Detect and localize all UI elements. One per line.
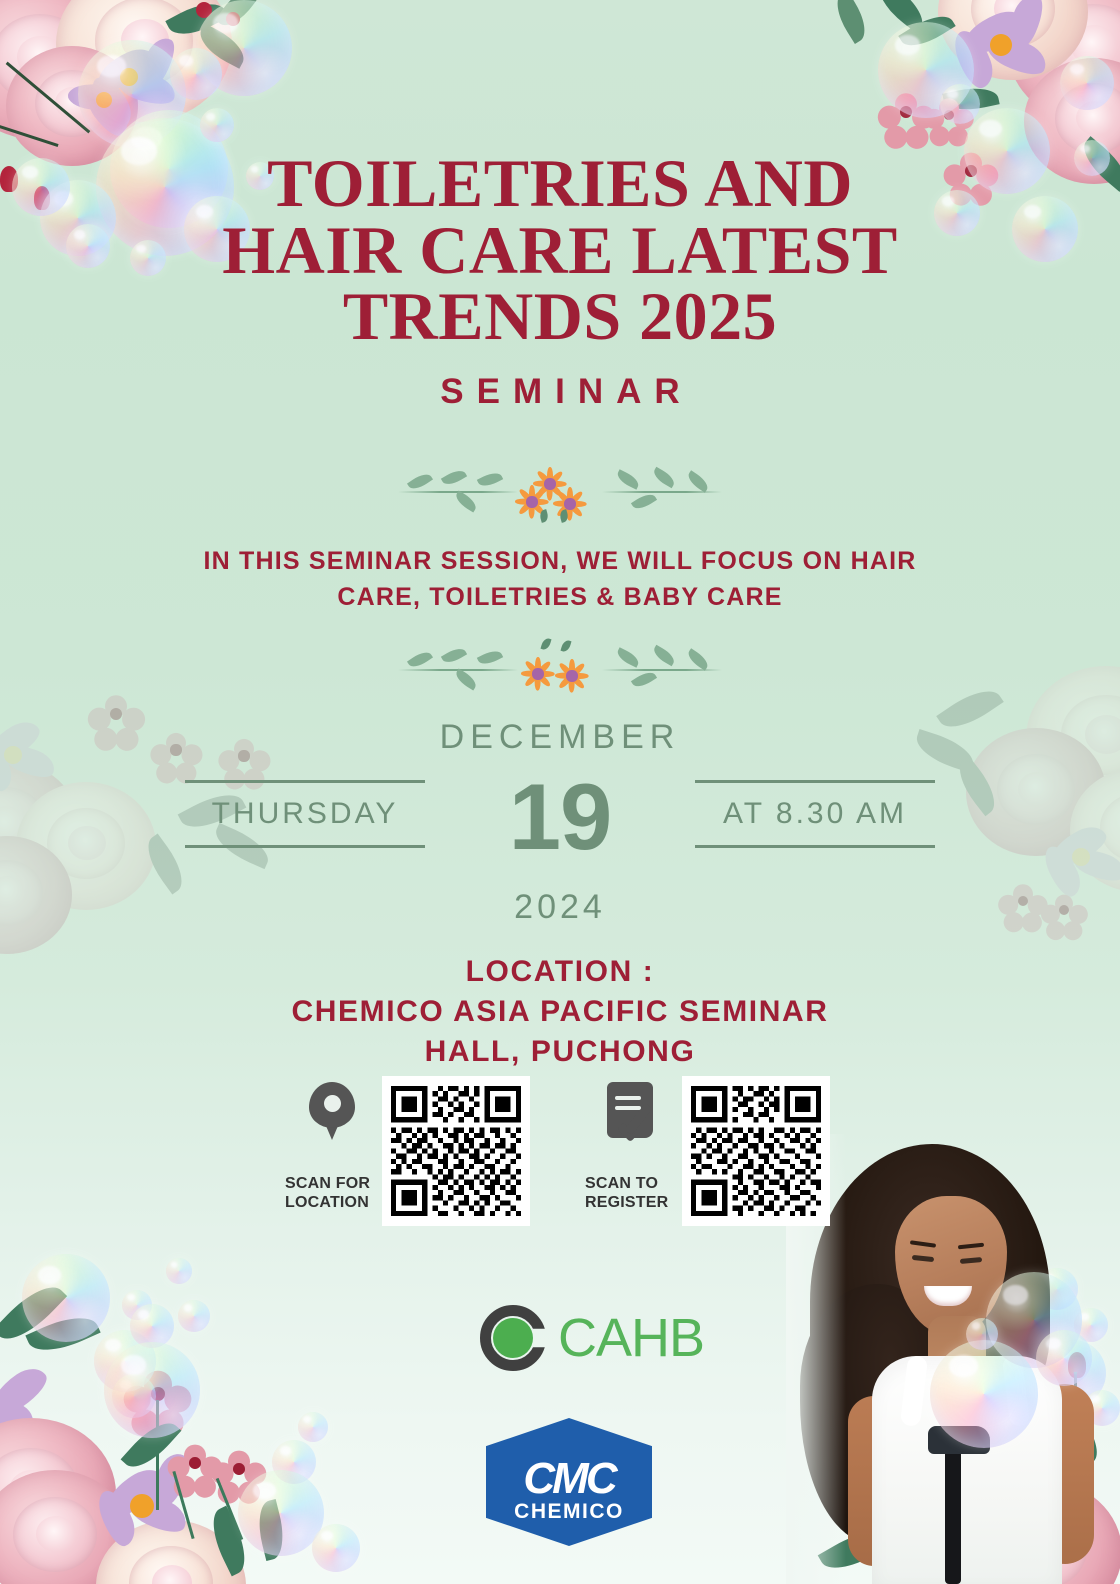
document-check-icon [595, 1080, 649, 1142]
qr-location-label-line-2: LOCATION [285, 1194, 380, 1212]
leaf-icon [453, 668, 479, 690]
cahb-wordmark: CAHB [558, 1311, 704, 1365]
qr-location-group[interactable]: SCAN FOR LOCATION [285, 1076, 530, 1226]
chemico-logo: CMC CHEMICO [486, 1418, 652, 1546]
map-pin-icon [295, 1080, 349, 1142]
event-location: LOCATION : CHEMICO ASIA PACIFIC SEMINAR … [0, 952, 1120, 1072]
event-weekday: THURSDAY [185, 780, 425, 848]
cahb-mark-icon [480, 1305, 546, 1371]
event-day: 19 [0, 770, 1120, 864]
description-line-2: CARE, TOILETRIES & BABY CARE [0, 579, 1120, 615]
leaf-icon [561, 639, 572, 653]
leaf-icon [407, 470, 433, 493]
leaf-icon [441, 467, 467, 489]
description-line-1: IN THIS SEMINAR SESSION, WE WILL FOCUS O… [0, 543, 1120, 579]
title-line-3: TRENDS 2025 [0, 283, 1120, 350]
leaf-icon [615, 647, 641, 667]
event-month: DECEMBER [0, 718, 1120, 757]
leaf-icon [631, 668, 657, 690]
qr-register-label-line-1: SCAN TO [585, 1175, 680, 1193]
qr-register-group[interactable]: SCAN TO REGISTER [585, 1076, 830, 1226]
daisy-icon [552, 656, 592, 696]
event-poster: TOILETRIES AND HAIR CARE LATEST TRENDS 2… [0, 0, 1120, 1584]
location-line-1: CHEMICO ASIA PACIFIC SEMINAR [0, 992, 1120, 1032]
qr-location-label: SCAN FOR LOCATION [285, 1175, 380, 1212]
qr-code-register[interactable] [682, 1076, 830, 1226]
leaf-icon [615, 469, 641, 489]
title-subtitle: SEMINAR [0, 372, 1120, 412]
daisy-icon [550, 484, 590, 524]
poster-content: TOILETRIES AND HAIR CARE LATEST TRENDS 2… [0, 0, 1120, 1584]
leaf-icon [441, 645, 467, 667]
qr-register-label: SCAN TO REGISTER [585, 1175, 680, 1212]
qr-code-register-image [691, 1085, 821, 1217]
seminar-description: IN THIS SEMINAR SESSION, WE WILL FOCUS O… [0, 543, 1120, 616]
title-line-1: TOILETRIES AND [0, 150, 1120, 217]
leaf-icon [685, 648, 711, 671]
title-line-2: HAIR CARE LATEST [0, 217, 1120, 284]
location-label: LOCATION : [0, 952, 1120, 992]
chemico-wordmark: CHEMICO [486, 1500, 652, 1524]
leaf-icon [651, 467, 677, 489]
leaf-icon [477, 647, 503, 667]
leaf-icon [541, 637, 552, 651]
qr-section: SCAN FOR LOCATION [0, 1076, 1120, 1246]
qr-code-location-image [391, 1085, 521, 1217]
floral-divider-bottom [390, 640, 730, 702]
checkmark-icon [617, 1102, 657, 1142]
floral-divider-top [390, 462, 730, 524]
page-title: TOILETRIES AND HAIR CARE LATEST TRENDS 2… [0, 150, 1120, 350]
leaf-icon [651, 645, 677, 667]
qr-register-label-line-2: REGISTER [585, 1194, 680, 1212]
leaf-icon [407, 648, 433, 671]
qr-code-location[interactable] [382, 1076, 530, 1226]
leaf-icon [631, 490, 657, 512]
leaf-icon [477, 469, 503, 489]
leaf-icon [685, 470, 711, 493]
qr-location-label-line-1: SCAN FOR [285, 1175, 380, 1193]
event-year: 2024 [0, 888, 1120, 927]
chemico-mark-text: CMC [486, 1454, 652, 1504]
event-date-block: DECEMBER 19 2024 THURSDAY AT 8.30 AM [0, 718, 1120, 928]
location-line-2: HALL, PUCHONG [0, 1032, 1120, 1072]
leaf-icon [453, 490, 479, 512]
event-time: AT 8.30 AM [695, 780, 935, 848]
cahb-logo: CAHB [480, 1305, 704, 1371]
